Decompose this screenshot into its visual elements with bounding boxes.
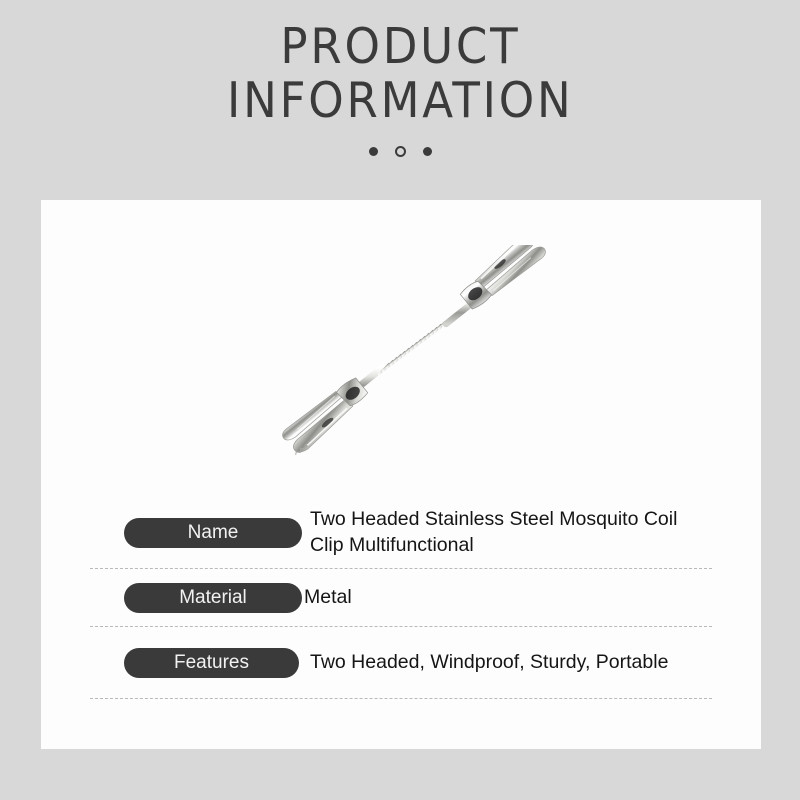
table-row: Material Metal [90,569,712,627]
spec-value-features: Two Headed, Windproof, Sturdy, Portable [310,650,712,676]
table-row: Features Two Headed, Windproof, Sturdy, … [90,627,712,699]
page-header: PRODUCT INFORMATION [0,0,800,200]
dot-filled-left [369,147,378,156]
product-image-area [41,200,761,485]
decorative-dots [369,146,432,157]
product-photo-icon [236,245,566,455]
table-row: Name Two Headed Stainless Steel Mosquito… [90,497,712,569]
spec-value-name: Two Headed Stainless Steel Mosquito Coil… [310,507,712,559]
page-title-line-2: INFORMATION [227,76,573,126]
spec-table: Name Two Headed Stainless Steel Mosquito… [90,497,712,699]
spec-label-material: Material [124,583,302,613]
spec-value-material: Metal [304,585,712,611]
page-title-line-1: PRODUCT [280,22,520,72]
dot-hollow-center [395,146,406,157]
spec-label-name: Name [124,518,302,548]
content-card: Name Two Headed Stainless Steel Mosquito… [41,200,761,749]
dot-filled-right [423,147,432,156]
product-information-page: PRODUCT INFORMATION [0,0,800,800]
spec-label-features: Features [124,648,299,678]
